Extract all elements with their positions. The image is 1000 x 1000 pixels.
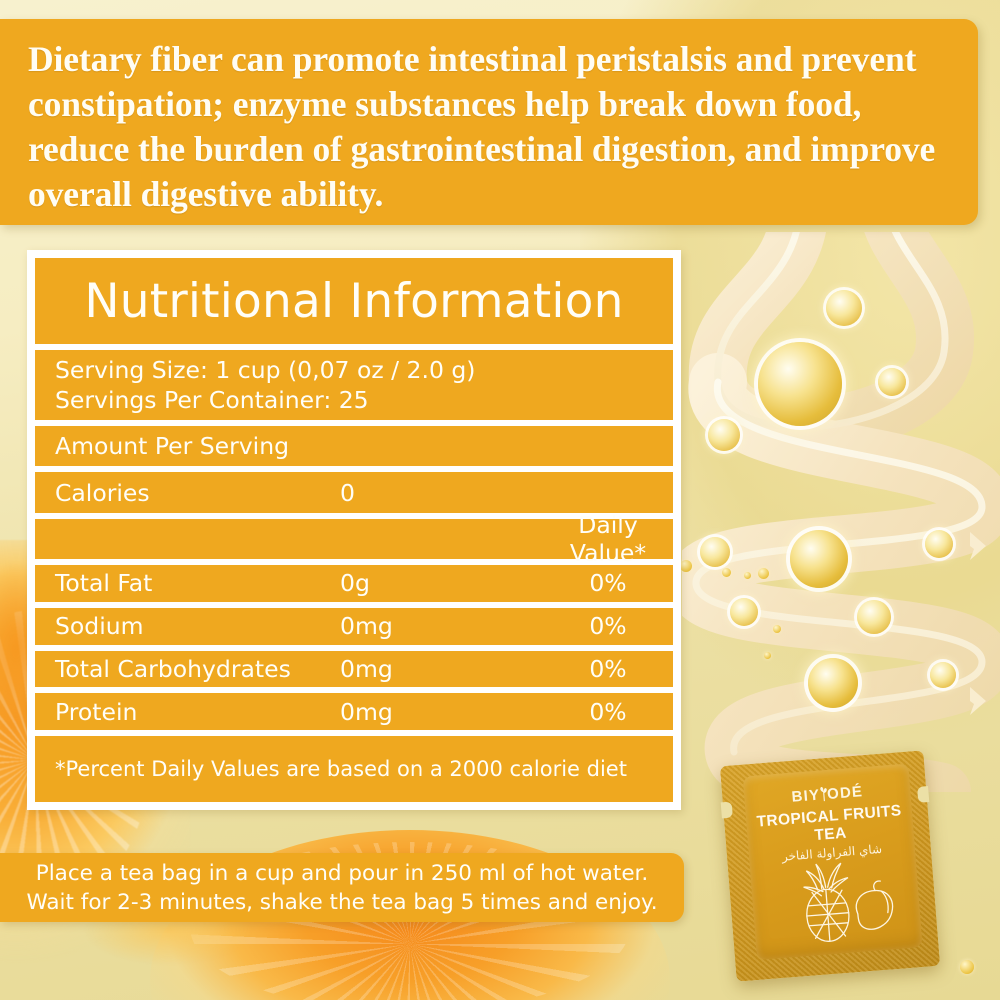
- nutrient-amount: 0mg: [340, 655, 393, 683]
- serving-info-row: Serving Size: 1 cup (0,07 oz / 2.0 g) Se…: [35, 350, 673, 420]
- golden-droplet: [764, 652, 771, 659]
- calories-row: Calories 0: [35, 472, 673, 512]
- golden-bubble: [857, 600, 891, 634]
- nutrient-label: Sodium: [35, 612, 144, 640]
- servings-per-container-text: Servings Per Container: 25: [55, 385, 369, 415]
- golden-droplet: [773, 625, 781, 633]
- nutrition-footnote-row: *Percent Daily Values are based on a 200…: [35, 736, 673, 802]
- sachet-tear-notch-right: [917, 786, 929, 803]
- golden-bubble: [730, 598, 758, 626]
- tea-sachet-image: BIYODÉ TROPICAL FRUITS TEA شاي الفراولة …: [720, 750, 940, 981]
- golden-bubble: [826, 290, 862, 326]
- golden-bubble: [790, 530, 848, 588]
- product-infographic: Dietary fiber can promote intestinal per…: [0, 0, 1000, 1000]
- tropical-fruit-icon: [778, 857, 904, 948]
- nutrient-daily-value: 0%: [548, 612, 668, 640]
- amount-per-serving-label: Amount Per Serving: [35, 432, 289, 460]
- nutrient-daily-value: 0%: [548, 655, 668, 683]
- golden-bubble: [878, 368, 906, 396]
- nutrient-label: Total Fat: [35, 569, 152, 597]
- nutrient-label: Total Carbohydrates: [35, 655, 291, 683]
- brand-name-left: BIY: [791, 787, 821, 806]
- nutrient-amount: 0mg: [340, 698, 393, 726]
- golden-bubble: [808, 658, 858, 708]
- brand-name-right: ODÉ: [826, 783, 863, 803]
- golden-droplet: [758, 568, 769, 579]
- nutrient-daily-value: 0%: [548, 569, 668, 597]
- nutrition-footnote: *Percent Daily Values are based on a 200…: [55, 757, 627, 781]
- table-row: Total Carbohydrates 0mg 0%: [35, 651, 673, 688]
- daily-value-header: Daily Value*: [548, 511, 668, 567]
- amount-per-serving-row: Amount Per Serving: [35, 426, 673, 466]
- serving-size-text: Serving Size: 1 cup (0,07 oz / 2.0 g): [55, 355, 475, 385]
- nutrient-label: Protein: [35, 698, 137, 726]
- golden-bubble: [930, 662, 956, 688]
- golden-droplet: [722, 568, 731, 577]
- instruction-line-2: Wait for 2-3 minutes, shake the tea bag …: [26, 888, 657, 917]
- table-row: Protein 0mg 0%: [35, 693, 673, 730]
- golden-bubble: [758, 342, 842, 426]
- golden-bubble: [925, 530, 953, 558]
- nutrition-title-row: Nutritional Information: [35, 258, 673, 344]
- calories-label: Calories: [35, 479, 150, 507]
- nutrient-daily-value: 0%: [548, 698, 668, 726]
- golden-bubble: [700, 537, 730, 567]
- nutrition-facts-card: Nutritional Information Serving Size: 1 …: [27, 250, 681, 810]
- golden-droplet: [960, 960, 974, 974]
- nutrient-amount: 0g: [340, 569, 370, 597]
- instruction-line-1: Place a tea bag in a cup and pour in 250…: [36, 859, 649, 888]
- nutrition-title: Nutritional Information: [84, 274, 623, 329]
- benefit-statement-banner: Dietary fiber can promote intestinal per…: [0, 19, 978, 225]
- sachet-front-panel: BIYODÉ TROPICAL FRUITS TEA شاي الفراولة …: [743, 764, 923, 960]
- table-row: Total Fat 0g 0%: [35, 565, 673, 602]
- golden-droplet: [744, 572, 751, 579]
- golden-droplet: [680, 560, 692, 572]
- golden-bubble: [708, 419, 740, 451]
- calories-value: 0: [340, 479, 355, 507]
- sachet-tear-notch-left: [721, 802, 733, 819]
- benefit-statement-text: Dietary fiber can promote intestinal per…: [28, 37, 952, 217]
- table-row: Sodium 0mg 0%: [35, 608, 673, 645]
- daily-value-header-row: Daily Value*: [35, 519, 673, 559]
- preparation-instructions-banner: Place a tea bag in a cup and pour in 250…: [0, 853, 684, 922]
- nutrient-amount: 0mg: [340, 612, 393, 640]
